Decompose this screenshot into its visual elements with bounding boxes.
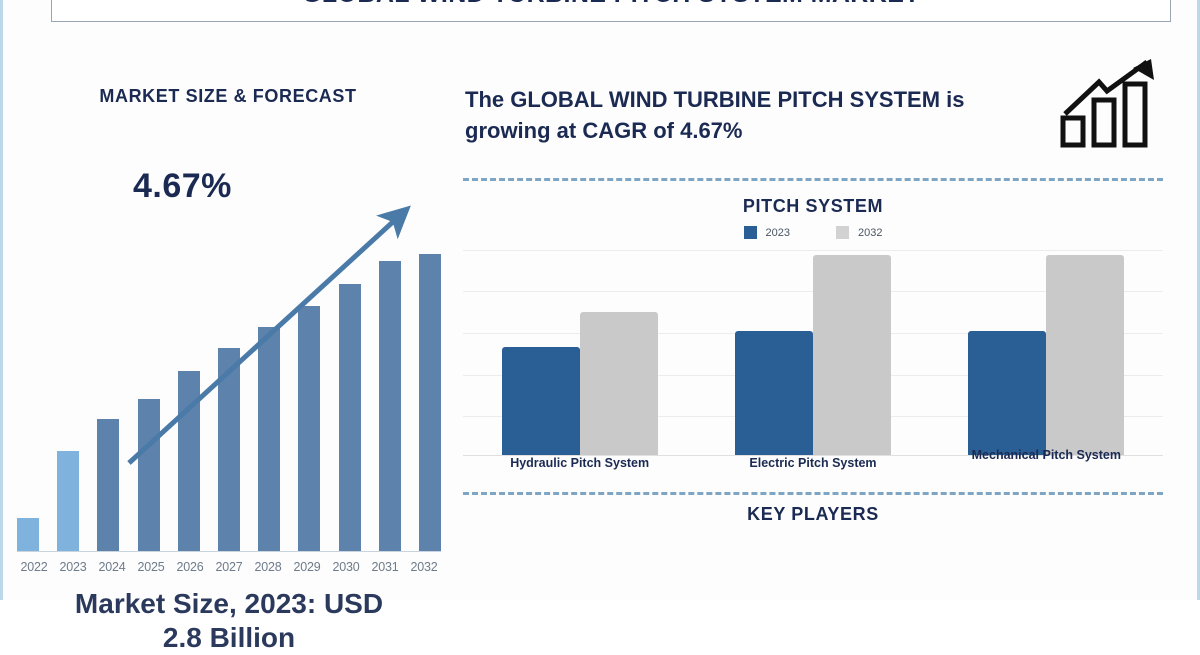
market-size-chart — [17, 120, 441, 555]
bar-2025 — [138, 399, 160, 551]
bar-mechanical-2032 — [1046, 255, 1124, 455]
market-size-line-1: Market Size, 2023: USD — [3, 587, 455, 621]
legend-swatch-2032 — [836, 226, 849, 239]
bar-group-electric — [696, 255, 929, 455]
category-label-hydraulic: Hydraulic Pitch System — [463, 456, 696, 470]
year-label: 2032 — [407, 560, 441, 574]
bar-2026 — [178, 371, 200, 551]
year-label: 2030 — [329, 560, 363, 574]
market-size-panel: MARKET SIZE & FORECAST 4.67% — [3, 60, 453, 600]
pitch-system-heading: PITCH SYSTEM — [463, 196, 1163, 217]
divider-bottom — [463, 492, 1163, 495]
bar-2024 — [97, 419, 119, 551]
bar-hydraulic-2032 — [580, 312, 658, 455]
bar-2028 — [258, 327, 280, 551]
bar-2031 — [379, 261, 401, 551]
pitch-system-panel: The GLOBAL WIND TURBINE PITCH SYSTEM is … — [455, 0, 1200, 600]
year-label: 2024 — [95, 560, 129, 574]
bar-2032 — [419, 254, 441, 551]
year-label: 2025 — [134, 560, 168, 574]
market-size-heading: MARKET SIZE & FORECAST — [3, 86, 453, 107]
legend-label-2023: 2023 — [766, 227, 790, 239]
year-label: 2031 — [368, 560, 402, 574]
bar-2022 — [17, 518, 39, 551]
chart-baseline — [17, 551, 441, 552]
bar-2029 — [298, 306, 320, 551]
bar-2023 — [57, 451, 79, 551]
category-label-electric: Electric Pitch System — [696, 456, 929, 470]
pitch-system-chart — [463, 248, 1163, 456]
legend-swatch-2023 — [744, 226, 757, 239]
year-label: 2028 — [251, 560, 285, 574]
year-label: 2026 — [173, 560, 207, 574]
bar-hydraulic-2023 — [502, 347, 580, 455]
bar-electric-2032 — [813, 255, 891, 455]
legend-item-2023: 2023 — [744, 226, 790, 239]
legend-item-2032: 2032 — [836, 226, 882, 239]
growth-bar-chart-arrow-icon — [1055, 56, 1165, 148]
key-players-heading: KEY PLAYERS — [463, 504, 1163, 525]
year-label: 2023 — [56, 560, 90, 574]
infographic-canvas: GLOBAL WIND TURBINE PITCH SYSTEM MARKET … — [0, 0, 1200, 600]
year-axis-labels: 2022 2023 2024 2025 2026 2027 2028 2029 … — [17, 560, 441, 574]
market-size-value: Market Size, 2023: USD 2.8 Billion — [3, 587, 455, 655]
market-size-line-2: 2.8 Billion — [3, 621, 455, 655]
market-size-bars — [17, 131, 441, 551]
pitch-bar-groups — [463, 248, 1163, 455]
divider-top — [463, 178, 1163, 181]
bar-group-mechanical — [930, 255, 1163, 455]
pitch-category-labels: Hydraulic Pitch System Electric Pitch Sy… — [463, 456, 1163, 470]
growth-statement: The GLOBAL WIND TURBINE PITCH SYSTEM is … — [465, 84, 1025, 146]
bar-mechanical-2023 — [968, 331, 1046, 455]
bar-electric-2023 — [735, 331, 813, 455]
chart-legend: 2023 2032 — [463, 226, 1163, 239]
bar-2027 — [218, 348, 240, 551]
bar-2030 — [339, 284, 361, 551]
year-label: 2027 — [212, 560, 246, 574]
year-label: 2022 — [17, 560, 51, 574]
legend-label-2032: 2032 — [858, 227, 882, 239]
bar-group-hydraulic — [463, 312, 696, 455]
year-label: 2029 — [290, 560, 324, 574]
category-label-mechanical: Mechanical Pitch System — [930, 448, 1163, 462]
